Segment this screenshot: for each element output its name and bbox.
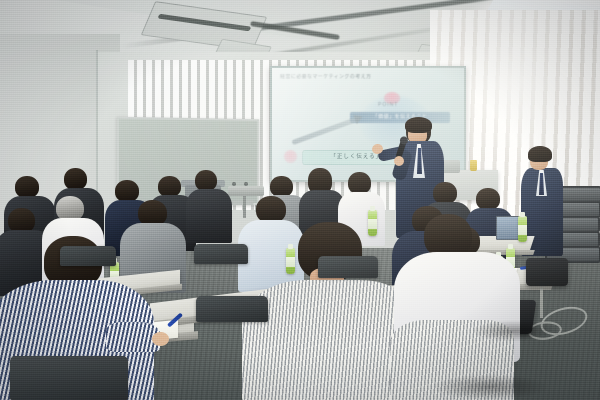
- attendee-head: [15, 176, 39, 198]
- attendee-head: [433, 182, 457, 204]
- attendee-head: [270, 176, 293, 197]
- attendee-mid-back-dark-hair: [188, 170, 230, 240]
- attendee-head: [476, 188, 500, 210]
- tea-bottle: [518, 216, 527, 242]
- presenter-right-hand: [394, 156, 404, 166]
- attendee-head: [64, 168, 87, 190]
- slide-caps-label: POINT: [378, 102, 398, 108]
- front-table-cup: [470, 160, 477, 171]
- presenter-hair: [405, 117, 432, 133]
- chair-back-row-2: [194, 244, 248, 264]
- slide-mascot-icon-2: [284, 150, 297, 163]
- chair-back-row-2b: [60, 246, 116, 266]
- chair-back-mid-2: [318, 256, 378, 278]
- attendee-head: [256, 196, 286, 223]
- attendee-head: [348, 172, 371, 194]
- slide-arrow-icon: [291, 116, 360, 145]
- business-bag: [526, 258, 568, 286]
- floor-shadow: [430, 374, 550, 400]
- slide-heading: 経営に必要なマーケティングの考え方: [280, 74, 410, 81]
- chair-back-front-left: [10, 356, 128, 400]
- attendee-hand: [152, 332, 169, 346]
- attendee-torso: [186, 189, 232, 243]
- attendee-head: [115, 180, 139, 202]
- desk-leg: [540, 288, 543, 318]
- floor-shadow-2: [470, 320, 560, 342]
- attendee-head: [158, 176, 181, 197]
- av-equipment: [228, 186, 264, 196]
- staff-hair: [528, 146, 552, 162]
- attendee-head: [195, 170, 217, 191]
- seminar-room-photo: 経営に必要なマーケティングの考え方 POINT 「価値」を伝えること 「正しく伝…: [0, 0, 600, 400]
- chair-back-mid: [196, 296, 268, 322]
